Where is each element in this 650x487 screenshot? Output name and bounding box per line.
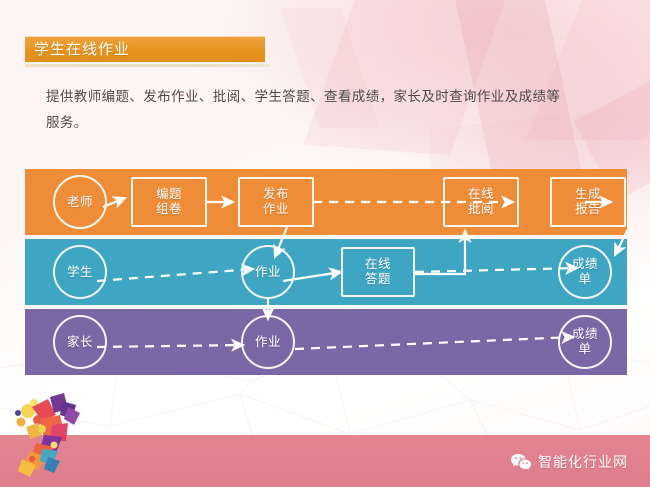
node-label: 在线 答题 <box>343 257 413 287</box>
node-label: 在线 批阅 <box>445 187 517 217</box>
node-student-actor[interactable]: 学生 <box>53 245 107 299</box>
node-label: 编题 组卷 <box>133 187 205 217</box>
node-label: 作业 <box>243 265 293 280</box>
node-parent-homework[interactable]: 作业 <box>241 315 295 369</box>
node-label: 作业 <box>243 335 293 350</box>
node-online-answer[interactable]: 在线 答题 <box>341 247 415 297</box>
title-underline <box>25 64 270 67</box>
lane-parent <box>25 309 627 375</box>
node-teacher-actor[interactable]: 老师 <box>53 175 107 229</box>
node-label: 成绩 单 <box>560 257 610 287</box>
wechat-watermark: 智能化行业网 <box>510 451 628 473</box>
node-label: 老师 <box>55 195 105 210</box>
node-compose-paper[interactable]: 编题 组卷 <box>131 177 207 227</box>
wechat-icon <box>510 453 532 471</box>
swimlane-diagram: 老师 编题 组卷 发布 作业 在线 批阅 生成 报告 学生 作业 在线 答题 成… <box>25 169 627 375</box>
node-label: 生成 报告 <box>552 187 624 217</box>
runner-logo <box>8 389 100 481</box>
slide-canvas: 学生在线作业 提供教师编题、发布作业、批阅、学生答题、查看成绩，家长及时查询作业… <box>0 0 650 487</box>
node-student-report-card[interactable]: 成绩 单 <box>558 245 612 299</box>
node-label: 发布 作业 <box>240 187 312 217</box>
node-parent-report-card[interactable]: 成绩 单 <box>558 315 612 369</box>
node-generate-report[interactable]: 生成 报告 <box>550 177 626 227</box>
node-label: 学生 <box>55 265 105 280</box>
node-student-homework[interactable]: 作业 <box>241 245 295 299</box>
node-label: 家长 <box>55 335 105 350</box>
node-publish-homework[interactable]: 发布 作业 <box>238 177 314 227</box>
section-description: 提供教师编题、发布作业、批阅、学生答题、查看成绩，家长及时查询作业及成绩等服务。 <box>46 84 566 136</box>
node-parent-actor[interactable]: 家长 <box>53 315 107 369</box>
lane-teacher <box>25 169 627 235</box>
wechat-label: 智能化行业网 <box>538 452 628 472</box>
node-label: 成绩 单 <box>560 327 610 357</box>
lane-student <box>25 239 627 305</box>
page-title: 学生在线作业 <box>34 38 264 62</box>
node-online-review[interactable]: 在线 批阅 <box>443 177 519 227</box>
